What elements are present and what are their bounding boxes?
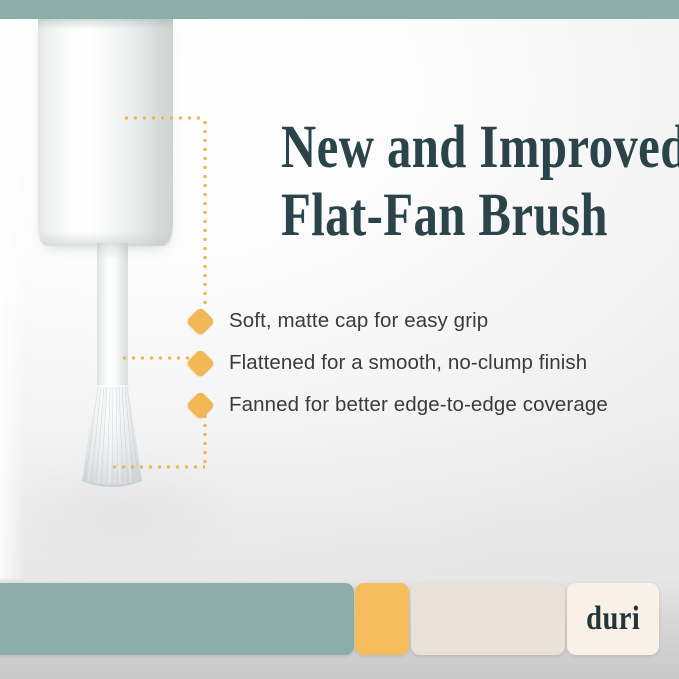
diamond-bullet-icon (186, 306, 216, 336)
list-item: Soft, matte cap for easy grip (190, 300, 660, 342)
top-teal-bar (0, 0, 679, 19)
brand-logo-block: duri (567, 583, 659, 655)
stem-top-shading (97, 243, 128, 259)
brush-stem (97, 243, 128, 388)
polish-cap (38, 19, 173, 246)
headline-line-2: Flat-Fan Brush (281, 185, 595, 246)
list-item: Fanned for better edge-to-edge coverage (190, 384, 660, 426)
feature-list: Soft, matte cap for easy grip Flattened … (190, 300, 660, 426)
list-item: Flattened for a smooth, no-clump finish (190, 342, 660, 384)
diamond-bullet-icon (186, 390, 216, 420)
cap-top-highlight (38, 19, 173, 29)
swatch-teal (0, 583, 354, 655)
headline-line-1: New and Improved (281, 117, 595, 178)
brand-logo-text: duri (586, 602, 640, 636)
swatch-beige (411, 583, 565, 655)
feature-text: Flattened for a smooth, no-clump finish (229, 352, 587, 374)
feature-text: Fanned for better edge-to-edge coverage (229, 394, 608, 416)
feature-text: Soft, matte cap for easy grip (229, 310, 488, 332)
swatch-amber (355, 583, 409, 655)
diamond-bullet-icon (186, 348, 216, 378)
headline: New and Improved Flat-Fan Brush (281, 117, 595, 246)
brush-bristles (62, 385, 162, 488)
footer-band: duri (0, 579, 679, 679)
marketing-image: New and Improved Flat-Fan Brush Soft, ma… (0, 0, 679, 679)
